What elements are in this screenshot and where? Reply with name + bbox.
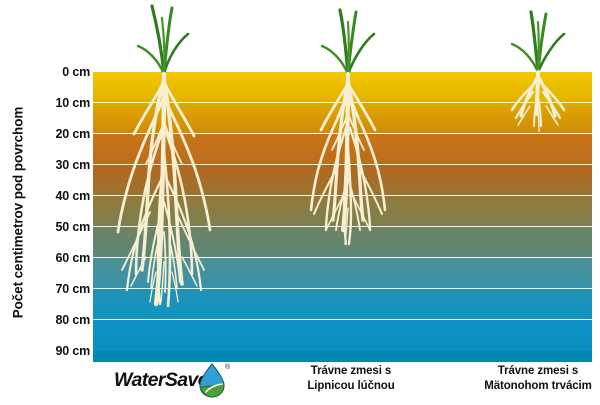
root-system-watersaver	[118, 74, 210, 306]
grass-blades-matonoh	[512, 12, 564, 72]
tick-90: 90 cm	[28, 345, 90, 358]
tick-10: 10 cm	[28, 97, 90, 110]
grass-blades-lipnica	[322, 10, 374, 74]
registered-trademark-symbol: ®	[225, 363, 231, 371]
watersaver-logo-mark: WaterSaver ®	[112, 360, 234, 400]
tick-30: 30 cm	[28, 159, 90, 172]
root-system-lipnica	[311, 74, 385, 244]
plant-lipnica	[292, 8, 404, 278]
watersaver-logo: WaterSaver ®	[112, 360, 234, 400]
tick-50: 50 cm	[28, 221, 90, 234]
tick-60: 60 cm	[28, 252, 90, 265]
caption-lipnica-line2: Lipnicou lúčnou	[266, 379, 436, 394]
caption-matonoh-line2: Mätonohom trvácim	[448, 379, 600, 394]
tick-80: 80 cm	[28, 314, 90, 327]
caption-lipnica: Trávne zmesi s Lipnicou lúčnou	[266, 364, 436, 393]
caption-matonoh: Trávne zmesi s Mätonohom trvácim	[448, 364, 600, 393]
depth-tick-labels: 0 cm 10 cm 20 cm 30 cm 40 cm 50 cm 60 cm…	[26, 0, 90, 405]
y-axis-title: Počet centimetrov pod povrchom	[11, 78, 26, 348]
plant-watersaver	[100, 2, 228, 350]
plant-matonoh	[488, 10, 588, 145]
tick-0: 0 cm	[28, 66, 90, 79]
grass-blades-watersaver	[138, 6, 188, 74]
caption-matonoh-line1: Trávne zmesi s	[448, 364, 600, 379]
root-depth-infographic: Počet centimetrov pod povrchom 0 cm 10 c…	[0, 0, 600, 405]
tick-70: 70 cm	[28, 283, 90, 296]
tick-40: 40 cm	[28, 190, 90, 203]
root-system-matonoh	[512, 72, 564, 131]
caption-lipnica-line1: Trávne zmesi s	[266, 364, 436, 379]
tick-20: 20 cm	[28, 128, 90, 141]
